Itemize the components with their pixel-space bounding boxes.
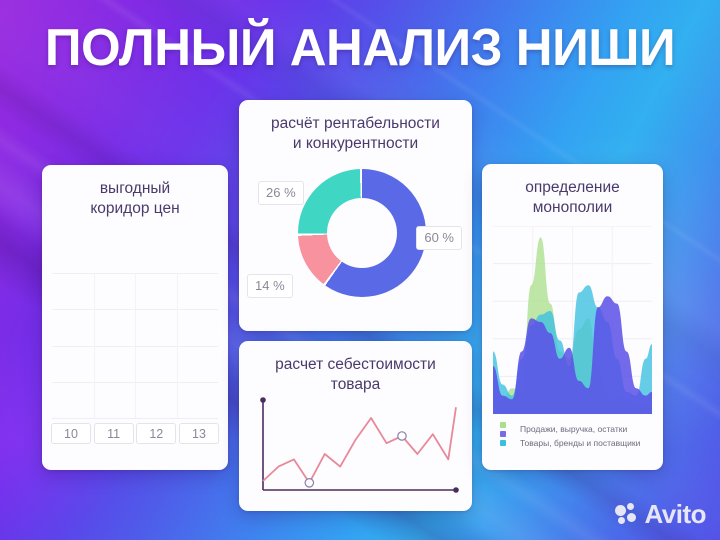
card-cost-price: расчет себестоимости товара — [239, 341, 472, 511]
legend-item-1: Товары, бренды и поставщики — [500, 436, 655, 450]
donut-chart: 26 % 14 % 60 % — [239, 164, 472, 324]
avito-wordmark: Avito — [644, 499, 706, 530]
legend-label-0: Продажи, выручка, остатки — [520, 424, 627, 434]
bar-axis-label-13: 13 — [179, 423, 219, 444]
legend-swatch-2 — [500, 440, 506, 446]
card-title-line-2: монополии — [492, 198, 653, 218]
page-title: ПОЛНЫЙ АНАЛИЗ НИШИ — [7, 20, 713, 76]
bar-chart-bars — [52, 273, 218, 418]
bar-axis-label-10: 10 — [51, 423, 91, 444]
bar-chart-plot — [52, 273, 218, 418]
avito-watermark: Avito — [615, 499, 706, 530]
donut-ring — [298, 169, 426, 297]
bar-chart-x-axis-labels: 10111213 — [51, 423, 219, 444]
line-chart-plot — [253, 396, 462, 500]
card-title-line-1: выгодный — [52, 179, 218, 199]
legend-label-1: Товары, бренды и поставщики — [520, 438, 640, 448]
bar-axis-label-12: 12 — [136, 423, 176, 444]
avito-circles-icon — [615, 503, 639, 527]
area-chart-legend-swatches — [500, 422, 506, 449]
bar-axis-label-11: 11 — [94, 423, 134, 444]
line-chart-svg — [253, 396, 462, 500]
card-profitability-title: расчёт рентабельности и конкурентности — [239, 100, 472, 154]
card-title-line-2: товара — [249, 375, 462, 395]
line-chart-series-себестоимость — [263, 407, 456, 483]
area-chart-plot — [493, 226, 652, 414]
card-cost-price-title: расчет себестоимости товара — [239, 341, 472, 395]
line-chart-axis-end-dot-1 — [453, 487, 459, 493]
area-chart-svg — [493, 226, 652, 414]
donut-label-pink: 14 % — [247, 274, 293, 298]
card-title-line-1: расчёт рентабельности — [249, 114, 462, 134]
legend-item-0: Продажи, выручка, остатки — [500, 422, 655, 436]
card-profitability: расчёт рентабельности и конкурентности 2… — [239, 100, 472, 331]
legend-swatch-0 — [500, 422, 506, 428]
donut-label-teal: 26 % — [258, 181, 304, 205]
card-title-line-2: и конкурентности — [249, 134, 462, 154]
card-title-line-2: коридор цен — [52, 199, 218, 219]
line-chart-marker-0 — [305, 479, 313, 487]
donut-label-blue: 60 % — [416, 226, 462, 250]
card-title-line-1: определение — [492, 178, 653, 198]
card-price-corridor-title: выгодный коридор цен — [42, 165, 228, 219]
line-chart-marker-1 — [398, 432, 406, 440]
card-title-line-1: расчет себестоимости — [249, 355, 462, 375]
card-price-corridor: выгодный коридор цен 10111213 — [42, 165, 228, 470]
area-chart-legend: Продажи, выручка, остаткиТовары, бренды … — [500, 422, 655, 450]
line-chart-axis-end-dot-0 — [260, 397, 266, 403]
card-monopoly-title: определение монополии — [482, 164, 663, 218]
card-monopoly: определение монополии Продажи, выручка, … — [482, 164, 663, 470]
legend-swatch-1 — [500, 431, 506, 437]
